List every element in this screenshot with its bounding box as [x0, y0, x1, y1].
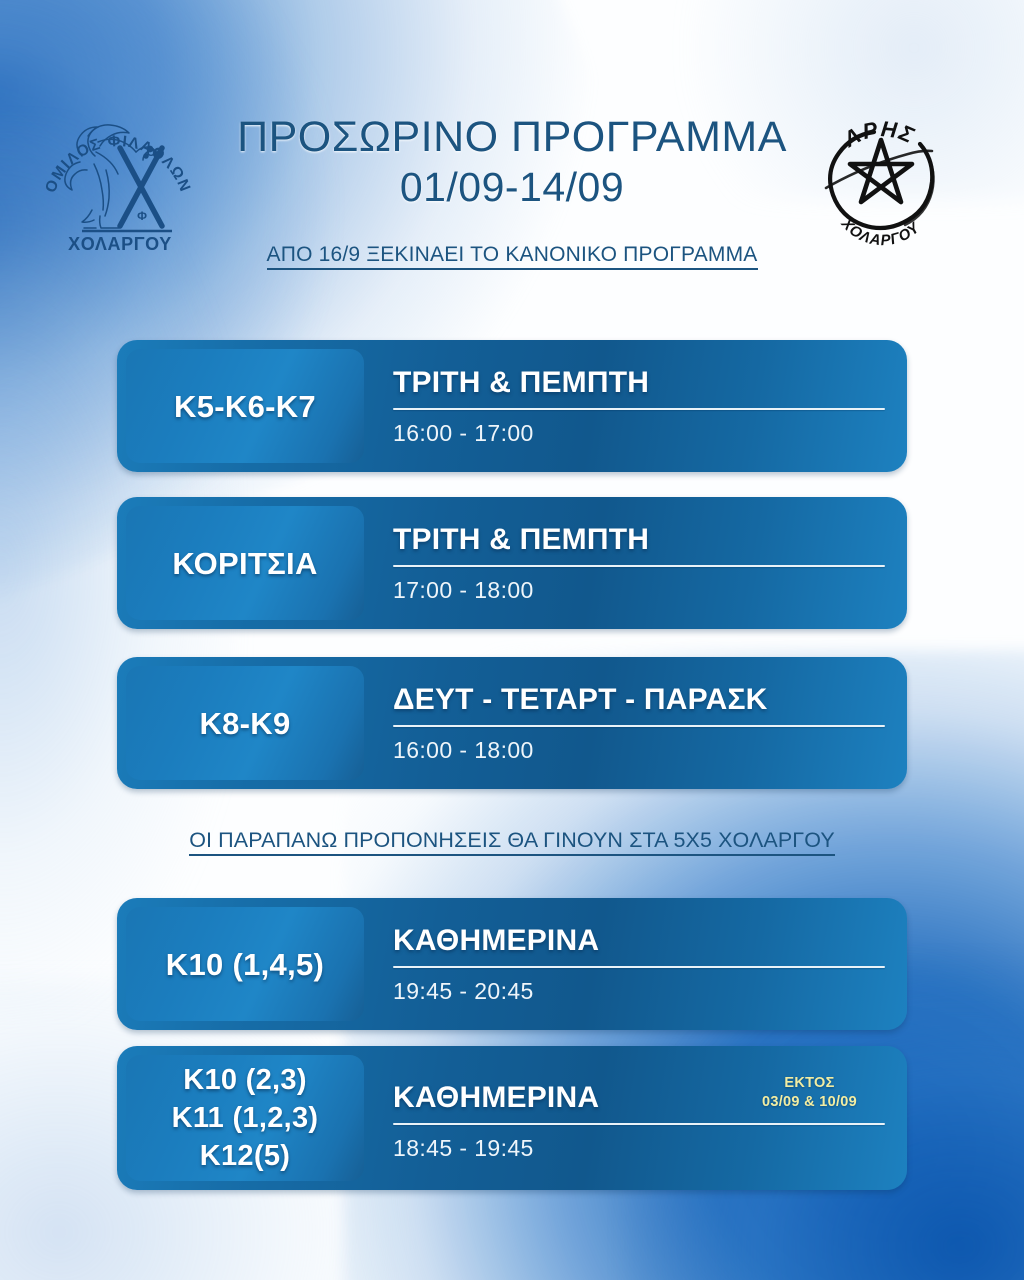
- schedule-card-days: ΔΕΥΤ - ΤΕΤΑΡΤ - ΠΑΡΑΣΚ: [393, 682, 768, 718]
- poster-header: ΟΜΙΛΟΣ ΦΙΛΑΘΛΩΝ: [0, 0, 1024, 200]
- schedule-card: Κ5-Κ6-Κ7ΤΡΙΤΗ & ΠΕΜΠΤΗ16:00 - 17:00: [117, 340, 907, 472]
- schedule-card-body: ΔΕΥΤ - ΤΕΤΑΡΤ - ΠΑΡΑΣΚ16:00 - 18:00: [393, 657, 885, 789]
- schedule-card: Κ10 (1,4,5)ΚΑΘΗΜΕΡΙΝΑ19:45 - 20:45: [117, 898, 907, 1030]
- schedule-card-time: 18:45 - 19:45: [393, 1134, 885, 1162]
- schedule-card-day-row: ΚΑΘΗΜΕΡΙΝΑΕΚΤΟΣ03/09 & 10/09: [393, 1074, 885, 1121]
- venue-note-text: ΟΙ ΠΑΡΑΠΑΝΩ ΠΡΟΠΟΝΗΣΕΙΣ ΘΑ ΓΙΝΟΥΝ ΣΤΑ 5Χ…: [189, 828, 835, 856]
- category-line: Κ5-Κ6-Κ7: [174, 388, 316, 425]
- schedule-card-category-label: Κ5-Κ6-Κ7: [168, 388, 322, 425]
- category-line: Κ12(5): [172, 1137, 319, 1175]
- schedule-card-day-row: ΔΕΥΤ - ΤΕΤΑΡΤ - ΠΑΡΑΣΚ: [393, 682, 885, 723]
- schedule-card-time: 17:00 - 18:00: [393, 576, 885, 604]
- category-line: Κ11 (1,2,3): [172, 1099, 319, 1137]
- schedule-card-category-panel: Κ10 (2,3)Κ11 (1,2,3)Κ12(5): [126, 1055, 364, 1181]
- schedule-card-divider: [393, 408, 885, 410]
- schedule-card-body: ΤΡΙΤΗ & ΠΕΜΠΤΗ17:00 - 18:00: [393, 497, 885, 629]
- schedule-card: Κ8-Κ9ΔΕΥΤ - ΤΕΤΑΡΤ - ΠΑΡΑΣΚ16:00 - 18:00: [117, 657, 907, 789]
- schedule-card-day-row: ΤΡΙΤΗ & ΠΕΜΠΤΗ: [393, 522, 885, 563]
- schedule-card-body: ΤΡΙΤΗ & ΠΕΜΠΤΗ16:00 - 17:00: [393, 340, 885, 472]
- schedule-card: Κ10 (2,3)Κ11 (1,2,3)Κ12(5)ΚΑΘΗΜΕΡΙΝΑΕΚΤΟ…: [117, 1046, 907, 1190]
- schedule-card-divider: [393, 966, 885, 968]
- exception-line: ΕΚΤΟΣ: [762, 1074, 857, 1093]
- venue-note: ΟΙ ΠΑΡΑΠΑΝΩ ΠΡΟΠΟΝΗΣΕΙΣ ΘΑ ΓΙΝΟΥΝ ΣΤΑ 5Χ…: [0, 828, 1024, 853]
- schedule-card-time: 19:45 - 20:45: [393, 977, 885, 1005]
- title-line-1: ΠΡΟΣΩΡΙΝΟ ΠΡΟΓΡΑΜΜΑ: [0, 112, 1024, 162]
- header-subtitle-text: ΑΠΟ 16/9 ΞΕΚΙΝΑΕΙ ΤΟ ΚΑΝΟΝΙΚΟ ΠΡΟΓΡΑΜΜΑ: [267, 243, 758, 270]
- category-line: Κ10 (1,4,5): [166, 946, 324, 983]
- category-line: Κ8-Κ9: [199, 705, 290, 742]
- schedule-card-category-panel: Κ10 (1,4,5): [126, 907, 364, 1021]
- schedule-card-days: ΚΑΘΗΜΕΡΙΝΑ: [393, 923, 599, 959]
- schedule-card-days: ΤΡΙΤΗ & ΠΕΜΠΤΗ: [393, 522, 649, 558]
- schedule-card-exception-note: ΕΚΤΟΣ03/09 & 10/09: [762, 1074, 885, 1116]
- schedule-card-body: ΚΑΘΗΜΕΡΙΝΑΕΚΤΟΣ03/09 & 10/0918:45 - 19:4…: [393, 1046, 885, 1190]
- category-line: Κ10 (2,3): [172, 1061, 319, 1099]
- schedule-card-category-label: Κ10 (1,4,5): [160, 946, 330, 983]
- exception-line: 03/09 & 10/09: [762, 1093, 857, 1112]
- schedule-card-days: ΤΡΙΤΗ & ΠΕΜΠΤΗ: [393, 365, 649, 401]
- schedule-card-category-panel: Κ5-Κ6-Κ7: [126, 349, 364, 463]
- schedule-card-category-panel: ΚΟΡΙΤΣΙΑ: [126, 506, 364, 620]
- schedule-card-category-panel: Κ8-Κ9: [126, 666, 364, 780]
- header-subtitle: ΑΠΟ 16/9 ΞΕΚΙΝΑΕΙ ΤΟ ΚΑΝΟΝΙΚΟ ΠΡΟΓΡΑΜΜΑ: [0, 243, 1024, 267]
- schedule-card-divider: [393, 1123, 885, 1125]
- schedule-card-day-row: ΚΑΘΗΜΕΡΙΝΑ: [393, 923, 885, 964]
- schedule-card-category-label: Κ8-Κ9: [193, 705, 296, 742]
- schedule-card-category-label: ΚΟΡΙΤΣΙΑ: [166, 545, 323, 582]
- page-title: ΠΡΟΣΩΡΙΝΟ ΠΡΟΓΡΑΜΜΑ 01/09-14/09: [0, 112, 1024, 212]
- schedule-card-days: ΚΑΘΗΜΕΡΙΝΑ: [393, 1080, 599, 1116]
- schedule-card-time: 16:00 - 18:00: [393, 736, 885, 764]
- schedule-card-category-label: Κ10 (2,3)Κ11 (1,2,3)Κ12(5): [166, 1061, 325, 1175]
- poster-page: ΟΜΙΛΟΣ ΦΙΛΑΘΛΩΝ: [0, 0, 1024, 1280]
- schedule-card-day-row: ΤΡΙΤΗ & ΠΕΜΠΤΗ: [393, 365, 885, 406]
- schedule-card-body: ΚΑΘΗΜΕΡΙΝΑ19:45 - 20:45: [393, 898, 885, 1030]
- category-line: ΚΟΡΙΤΣΙΑ: [172, 545, 317, 582]
- schedule-card-time: 16:00 - 17:00: [393, 419, 885, 447]
- schedule-card: ΚΟΡΙΤΣΙΑΤΡΙΤΗ & ΠΕΜΠΤΗ17:00 - 18:00: [117, 497, 907, 629]
- title-line-2: 01/09-14/09: [0, 162, 1024, 212]
- schedule-card-divider: [393, 725, 885, 727]
- schedule-card-divider: [393, 565, 885, 567]
